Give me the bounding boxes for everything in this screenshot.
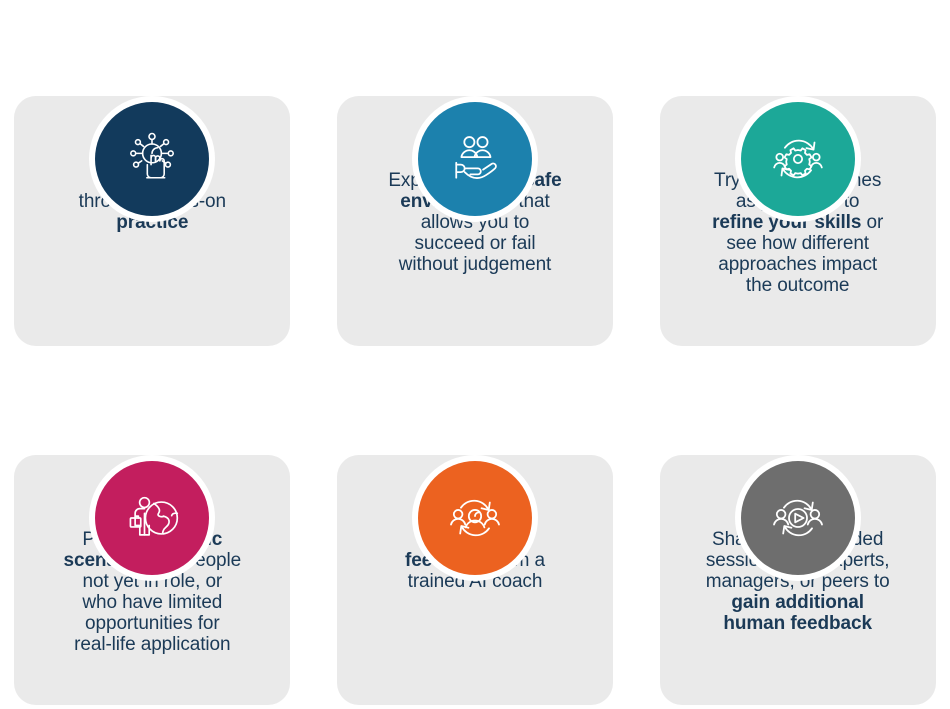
icon-badge-realistic-scenarios bbox=[89, 455, 215, 581]
lightbulb-network-touch-icon bbox=[122, 129, 182, 189]
icon-badge-safe-environment bbox=[412, 96, 538, 222]
icon-disc bbox=[741, 461, 855, 575]
benefit-card-realistic-scenarios[interactable]: Provide realisticscenarios for peoplenot… bbox=[14, 455, 290, 705]
icon-badge-develop-skills bbox=[89, 96, 215, 222]
people-feedback-loop-icon bbox=[445, 488, 505, 548]
benefit-card-share-recorded-sessions[interactable]: Share your recordedsessions with experts… bbox=[660, 455, 936, 705]
card-slot-develop-skills: Develop skillsthrough hands-onpractice bbox=[0, 0, 305, 351]
card-slot-realistic-scenarios: Provide realisticscenarios for peoplenot… bbox=[0, 359, 305, 709]
people-in-hand-icon bbox=[445, 129, 505, 189]
icon-disc bbox=[95, 102, 209, 216]
play-button-people-loop-icon bbox=[768, 488, 828, 548]
card-slot-real-time-feedback: Get real-timefeedback from atrained AI c… bbox=[323, 359, 628, 709]
card-slot-share-recorded-sessions: Share your recordedsessions with experts… bbox=[645, 359, 950, 709]
icon-disc bbox=[418, 461, 532, 575]
card-slot-safe-environment: Experiment in a safeenvironment thatallo… bbox=[323, 0, 628, 351]
card-slot-refine-your-skills: Try it as many timesas you'd like torefi… bbox=[645, 0, 950, 351]
benefits-grid: Develop skillsthrough hands-onpractice bbox=[0, 0, 950, 709]
icon-badge-real-time-feedback bbox=[412, 455, 538, 581]
icon-disc bbox=[95, 461, 209, 575]
benefit-card-real-time-feedback[interactable]: Get real-timefeedback from atrained AI c… bbox=[337, 455, 613, 705]
benefit-card-refine-your-skills[interactable]: Try it as many timesas you'd like torefi… bbox=[660, 96, 936, 346]
gear-refresh-people-icon bbox=[768, 129, 828, 189]
icon-badge-share-recorded-sessions bbox=[735, 455, 861, 581]
benefit-card-safe-environment[interactable]: Experiment in a safeenvironment thatallo… bbox=[337, 96, 613, 346]
icon-badge-refine-your-skills bbox=[735, 96, 861, 222]
icon-disc bbox=[741, 102, 855, 216]
person-briefcase-globe-icon bbox=[122, 488, 182, 548]
icon-disc bbox=[418, 102, 532, 216]
benefit-card-develop-skills[interactable]: Develop skillsthrough hands-onpractice bbox=[14, 96, 290, 346]
